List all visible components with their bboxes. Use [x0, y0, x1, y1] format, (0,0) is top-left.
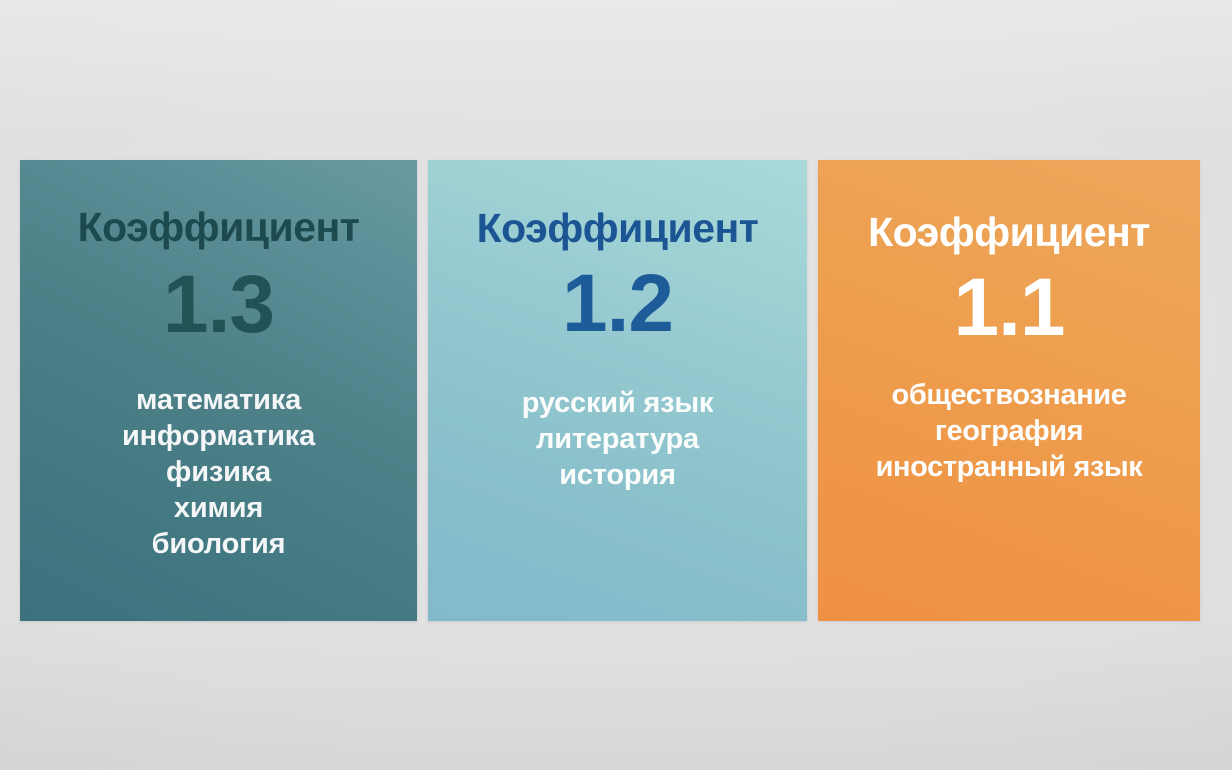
card-1-coefficient-label: Коэффициент — [20, 160, 417, 248]
card-2-coefficient-label: Коэффициент — [428, 160, 807, 249]
card-2-coefficient-value: 1.2 — [428, 249, 807, 345]
card-3-subject-list: обществознание география иностранный язы… — [818, 349, 1200, 485]
coefficient-card-2[interactable]: Коэффициент 1.2 русский язык литература … — [428, 160, 807, 621]
slide-canvas: Коэффициент 1.3 математика информатика ф… — [0, 0, 1232, 770]
coefficient-card-1[interactable]: Коэффициент 1.3 математика информатика ф… — [20, 160, 417, 621]
card-3-coefficient-value: 1.1 — [818, 253, 1200, 349]
card-1-coefficient-value: 1.3 — [20, 248, 417, 346]
coefficient-card-3[interactable]: Коэффициент 1.1 обществознание география… — [818, 160, 1200, 621]
card-2-content: Коэффициент 1.2 русский язык литература … — [428, 160, 807, 621]
card-3-content: Коэффициент 1.1 обществознание география… — [818, 160, 1200, 621]
card-1-content: Коэффициент 1.3 математика информатика ф… — [20, 160, 417, 621]
card-1-subject-list: математика информатика физика химия биол… — [20, 346, 417, 562]
card-3-coefficient-label: Коэффициент — [818, 160, 1200, 253]
card-2-subject-list: русский язык литература история — [428, 345, 807, 493]
